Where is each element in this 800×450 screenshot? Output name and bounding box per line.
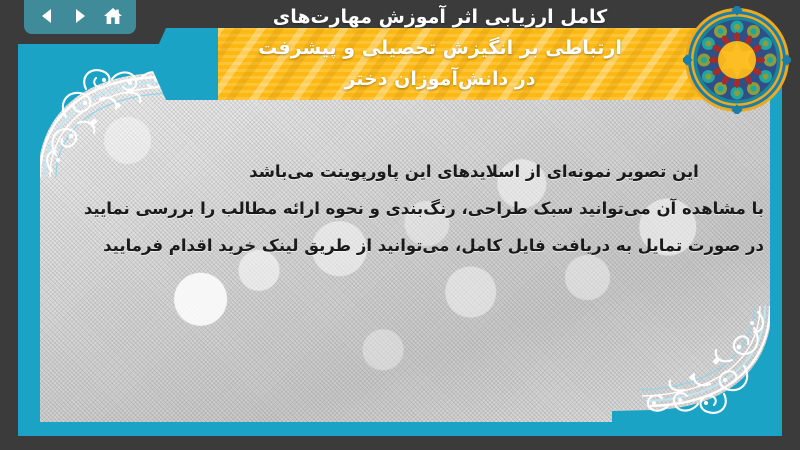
triangle-right-icon <box>71 7 89 25</box>
home-button[interactable] <box>100 4 126 28</box>
slide-body-text: این تصویر نمونه‌ای از اسلایدهای این پاور… <box>184 153 764 264</box>
home-icon <box>103 7 123 26</box>
next-slide-button[interactable] <box>67 4 93 28</box>
title-line-1: کامل ارزیابی اثر آموزش مهارت‌های <box>180 2 700 33</box>
corner-ornament-top-left <box>40 61 198 179</box>
slide-frame: این تصویر نمونه‌ای از اسلایدهای این پاور… <box>18 44 782 436</box>
corner-ornament-bottom-right <box>612 304 770 422</box>
previous-slide-button[interactable] <box>34 4 60 28</box>
slide-viewer: این تصویر نمونه‌ای از اسلایدهای این پاور… <box>0 0 800 450</box>
body-line-2: با مشاهده آن می‌توانید سبک طراحی، رنگ‌بن… <box>184 190 764 227</box>
body-line-3: در صورت تمایل به دریافت فایل کامل، می‌تو… <box>184 227 764 264</box>
persian-medallion-ornament <box>683 6 791 114</box>
body-line-1: این تصویر نمونه‌ای از اسلایدهای این پاور… <box>184 153 764 190</box>
slide-content-area: این تصویر نمونه‌ای از اسلایدهای این پاور… <box>40 61 770 422</box>
triangle-left-icon <box>38 7 56 25</box>
slide-navigation-bar <box>24 0 136 34</box>
